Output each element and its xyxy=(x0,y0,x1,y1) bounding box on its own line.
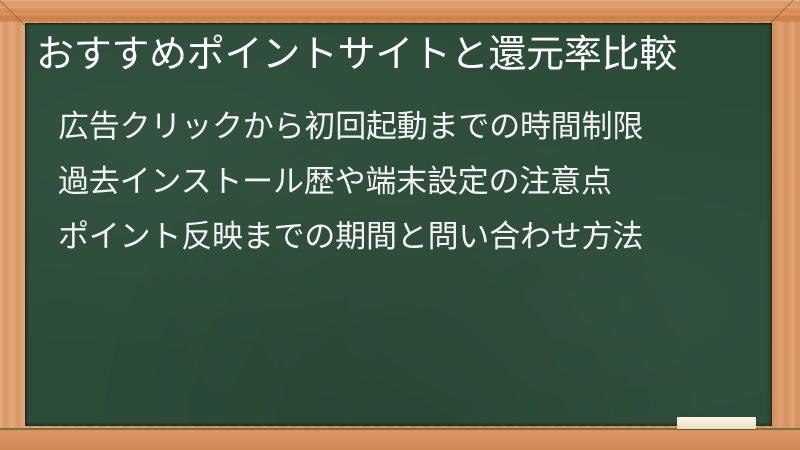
bullet-list: 広告クリックから初回起動までの時間制限 過去インストール歴や端末設定の注意点 ポ… xyxy=(58,100,758,265)
chalk-tray xyxy=(0,428,800,450)
frame-top-rail xyxy=(0,0,800,22)
board-content: おすすめポイントサイトと還元率比較 広告クリックから初回起動までの時間制限 過去… xyxy=(25,23,772,426)
bullet-item-2: 過去インストール歴や端末設定の注意点 xyxy=(58,155,758,210)
bullet-item-3: ポイント反映までの期間と問い合わせ方法 xyxy=(58,210,758,265)
slide-title: おすすめポイントサイトと還元率比較 xyxy=(36,31,762,77)
blackboard-slide: おすすめポイントサイトと還元率比較 広告クリックから初回起動までの時間制限 過去… xyxy=(0,0,800,450)
chalkboard-surface: おすすめポイントサイトと還元率比較 広告クリックから初回起動までの時間制限 過去… xyxy=(25,23,772,426)
bullet-item-1: 広告クリックから初回起動までの時間制限 xyxy=(58,100,758,155)
chalk-stick xyxy=(677,417,756,429)
